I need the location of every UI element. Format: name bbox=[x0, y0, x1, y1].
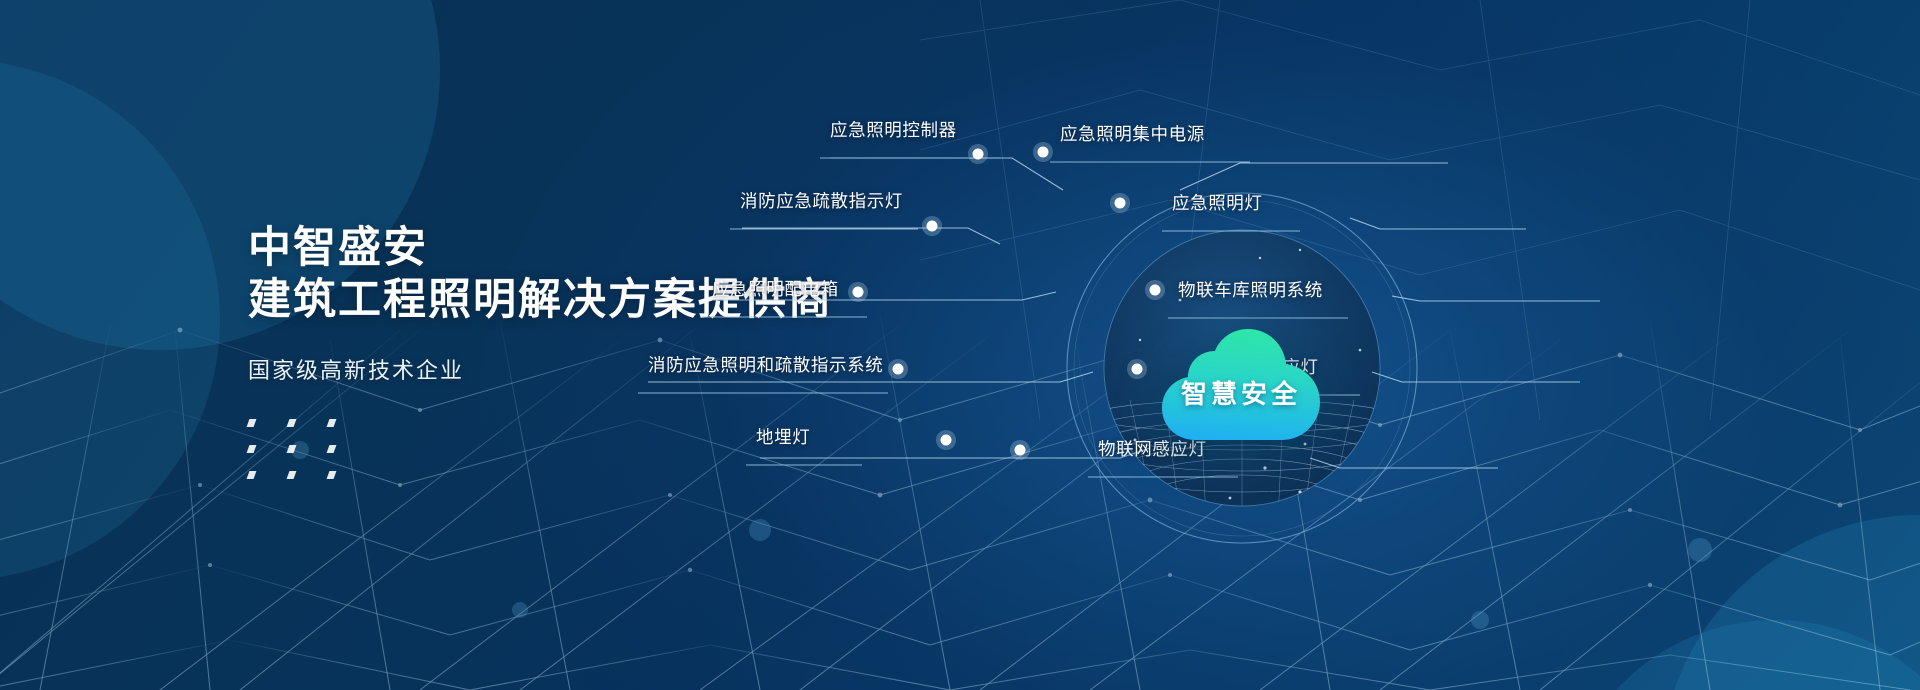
ring-node-6 bbox=[1145, 280, 1165, 300]
background-mesh-top bbox=[920, 0, 1920, 420]
hero-banner: 中智盛安 建筑工程照明解决方案提供商 国家级高新技术企业 bbox=[0, 0, 1920, 690]
ring-node-2 bbox=[1033, 142, 1053, 162]
ring-node-dots bbox=[848, 142, 1165, 460]
decor-dash bbox=[327, 471, 337, 479]
ring-node-10 bbox=[1010, 440, 1030, 460]
ring-node-7 bbox=[888, 359, 908, 379]
decor-dash bbox=[247, 471, 257, 479]
decor-dash bbox=[327, 419, 337, 427]
headline-line-1: 中智盛安 bbox=[248, 224, 428, 272]
decor-circle-top-left-b bbox=[0, 60, 220, 580]
decor-circle-bottom-right-a bbox=[1660, 515, 1920, 690]
diagram-label-2: 应急照明集中电源 bbox=[1060, 126, 1205, 144]
decor-circle-bottom-right-b bbox=[1560, 620, 1920, 690]
diagram-label-4: 应急照明灯 bbox=[1172, 195, 1263, 213]
smart-safety-cloud: 智慧安全 bbox=[1150, 318, 1332, 446]
decor-dash bbox=[327, 445, 337, 453]
decor-dash bbox=[247, 445, 257, 453]
diagram-label-7: 消防应急照明和疏散指示系统 bbox=[648, 357, 883, 375]
page-title: 中智盛安 建筑工程照明解决方案提供商 bbox=[248, 222, 868, 327]
ring-node-3 bbox=[922, 216, 942, 236]
cloud-label: 智慧安全 bbox=[1150, 374, 1332, 411]
diagram-label-6: 物联车库照明系统 bbox=[1178, 282, 1323, 300]
diagram-label-3: 消防应急疏散指示灯 bbox=[740, 193, 903, 211]
ring-node-1 bbox=[968, 144, 988, 164]
decor-dash bbox=[287, 445, 297, 453]
ring-node-4 bbox=[1110, 193, 1130, 213]
decor-dash bbox=[287, 419, 297, 427]
decor-dash bbox=[287, 471, 297, 479]
diagram-label-1: 应急照明控制器 bbox=[830, 122, 957, 140]
decor-dash bbox=[247, 419, 257, 427]
diagram-label-9: 地埋灯 bbox=[756, 429, 810, 447]
ring-node-9 bbox=[936, 430, 956, 450]
decor-dot-grid bbox=[248, 419, 344, 479]
ring-node-8 bbox=[1127, 359, 1147, 379]
diagram-label-5: 应急照明配电箱 bbox=[712, 281, 839, 299]
